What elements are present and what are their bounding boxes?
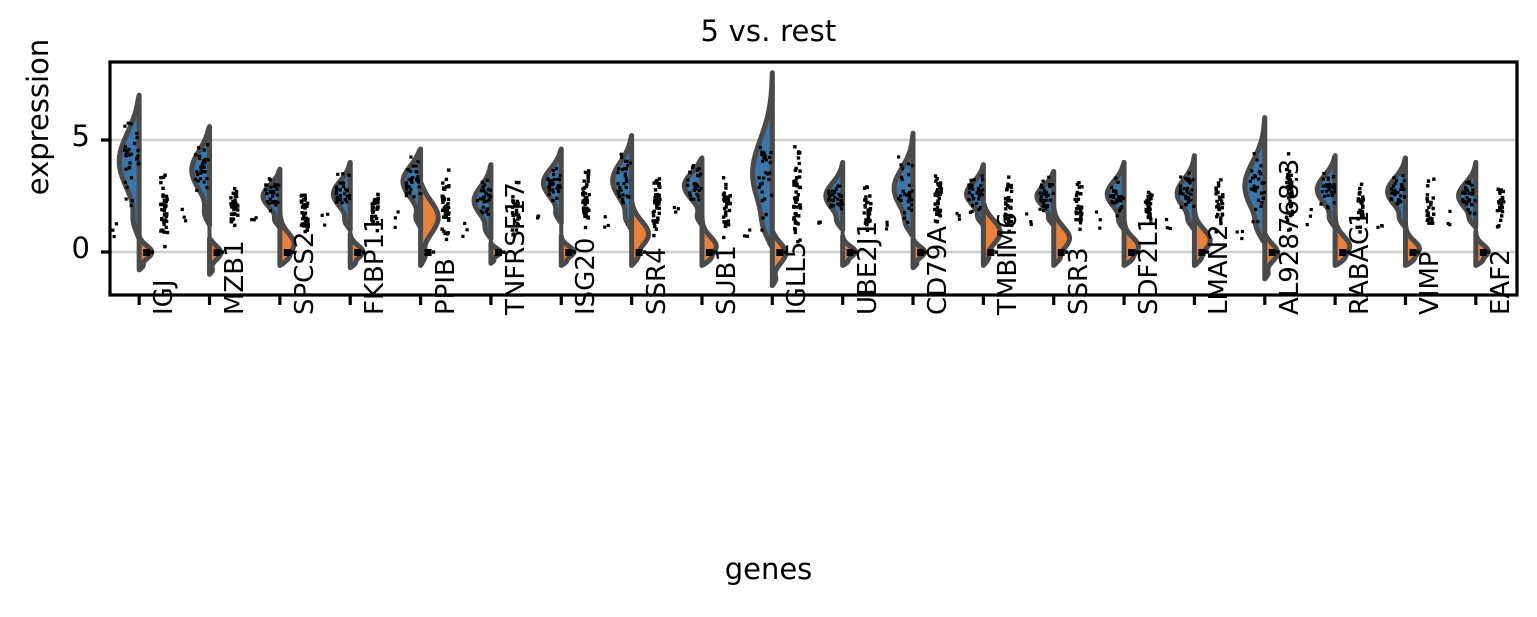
x-tick-label: EAF2 [1486,249,1516,315]
x-tick-label: UBE2J1 [853,221,883,315]
y-tick-label: 0 [50,231,90,265]
y-tick-label: 5 [50,119,90,153]
x-tick-label: LMAN2 [1204,224,1234,315]
x-tick-label: VIMP [1415,251,1445,315]
violin-plot-figure: 5 vs. rest expression genes 05 IGJMZB1SP… [0,0,1537,617]
axes-frame [110,62,1517,295]
x-tick-label: TMBIM6 [993,212,1023,315]
gridlines [110,140,1517,252]
x-tick-label: PPIB [431,258,461,315]
x-tick-label: IGJ [149,280,179,315]
x-tick-label: ISG20 [571,238,601,315]
x-tick-label: CD79A [923,226,953,315]
violin-group [543,149,573,265]
violin-group [403,149,438,265]
x-tick-label: SSR3 [1064,247,1094,315]
x-tick-label: IGLL5 [782,242,812,315]
x-tick-label: SSR4 [642,247,672,315]
x-tick-label: SPCS2 [290,232,320,315]
x-tick-label: TNFRSF17 [501,182,531,315]
violin-group [613,136,649,266]
x-tick-label: RABAC1 [1345,210,1375,315]
x-tick-label: FKBP11 [360,216,390,315]
x-tick-label: AL928768.3 [1275,159,1305,315]
x-tick-label: MZB1 [220,240,250,315]
x-tick-label: SUB1 [712,245,742,315]
x-tick-label: SDF2L1 [1134,216,1164,315]
